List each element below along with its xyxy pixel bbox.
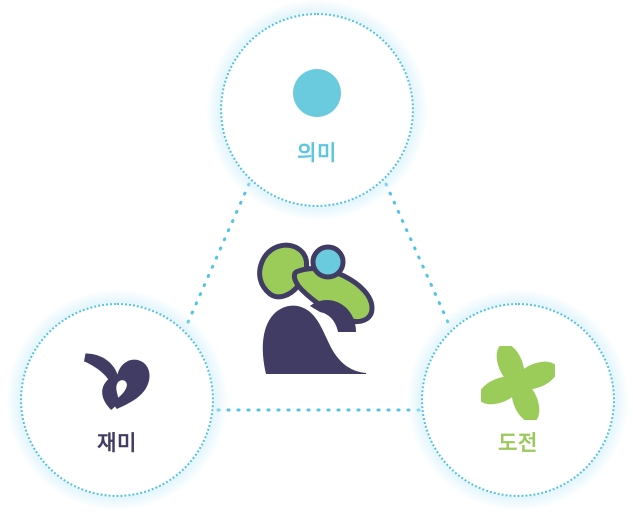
node-fun[interactable]: 재미: [20, 303, 214, 497]
solid-circle-icon: [292, 57, 342, 129]
abstract-jieut-glyph-icon: [81, 347, 153, 419]
mascot-figure-icon: [252, 236, 388, 378]
diagram-canvas: 의미 재미 도전: [0, 0, 633, 515]
cyan-head-circle: [313, 247, 343, 277]
node-label-challenge: 도전: [498, 433, 538, 454]
node-challenge[interactable]: 도전: [421, 303, 615, 497]
node-label-meaning: 의미: [297, 143, 337, 164]
connector-meaning-challenge: [386, 184, 451, 329]
four-petal-clover-icon: [481, 347, 555, 419]
node-meaning[interactable]: 의미: [220, 13, 414, 207]
connector-meaning-fun: [185, 184, 249, 329]
node-label-fun: 재미: [97, 433, 137, 454]
